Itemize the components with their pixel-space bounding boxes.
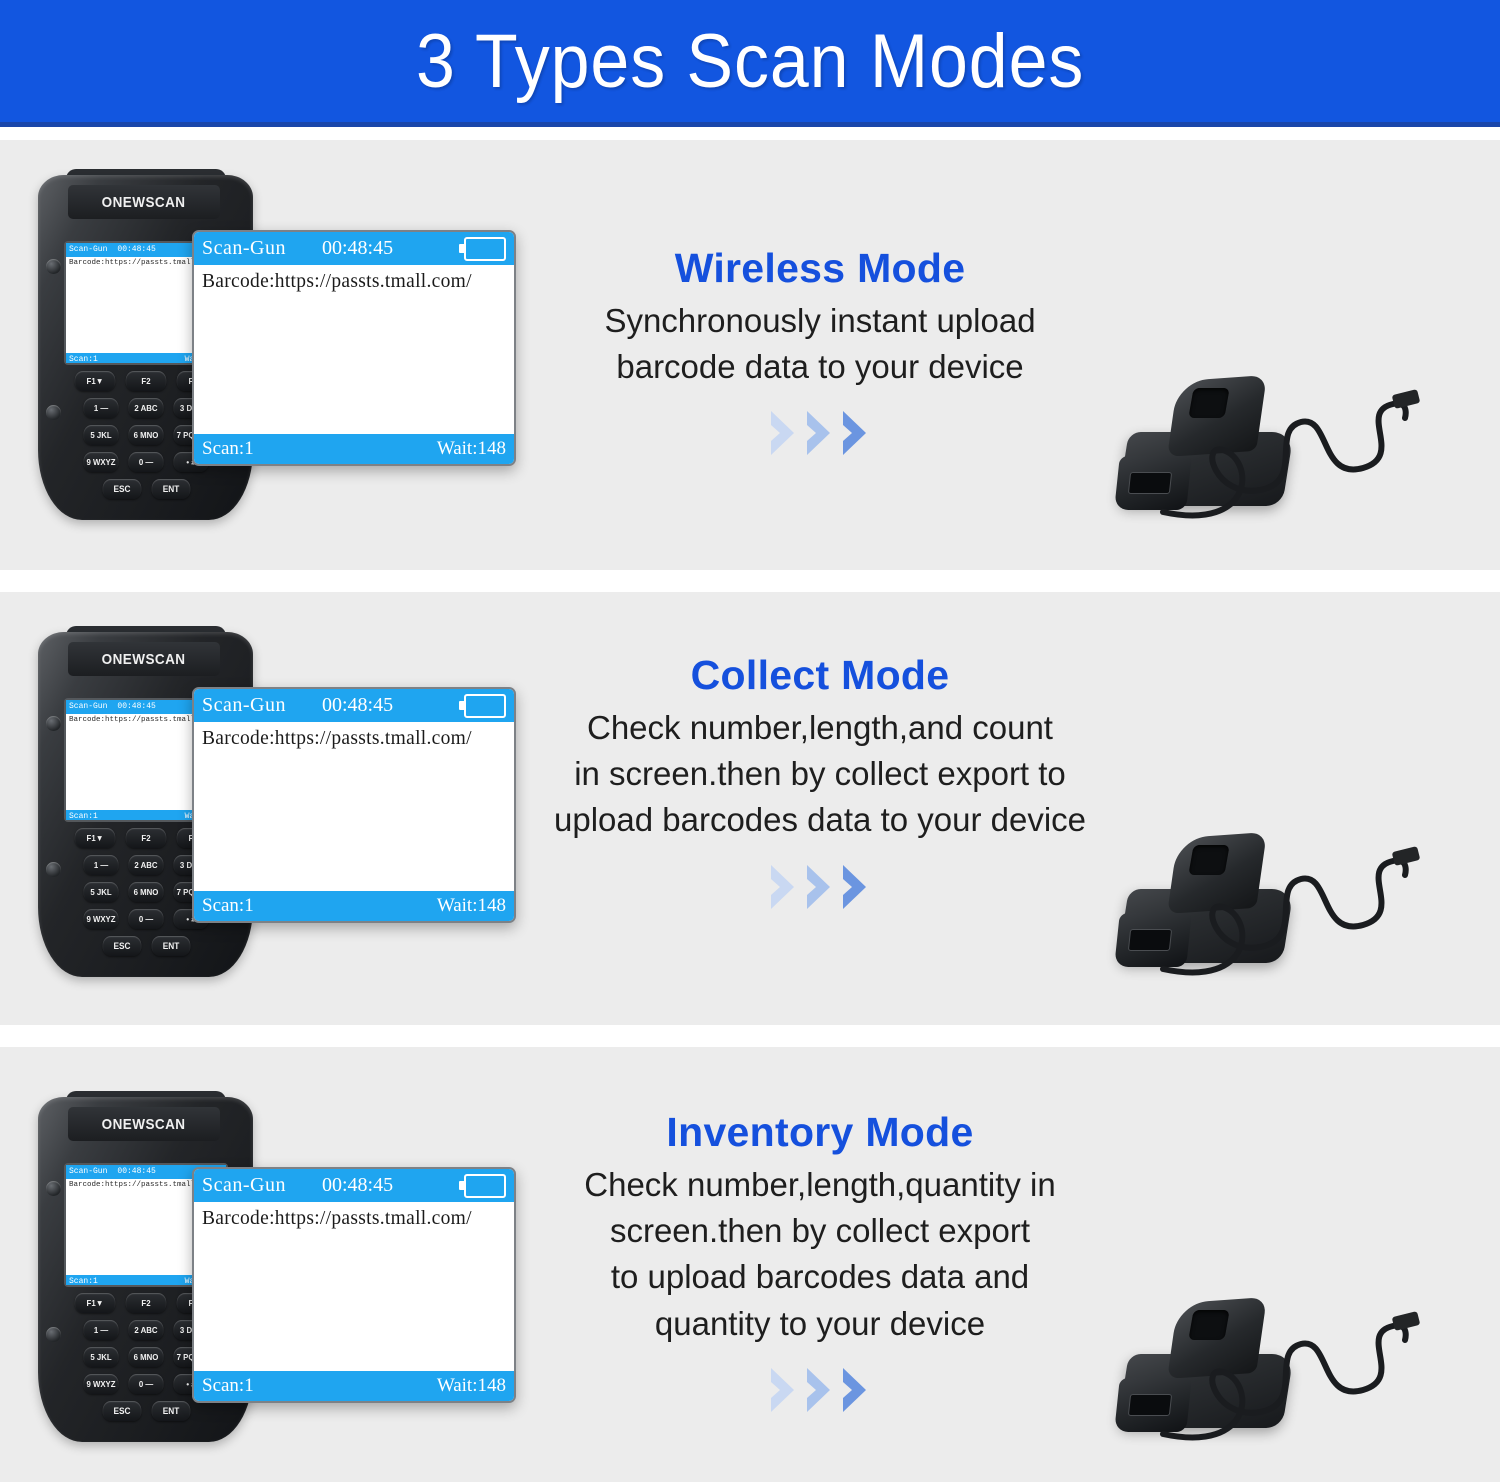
key-1[interactable]: 1 — [84,855,119,875]
key-f1[interactable]: F1▼ [75,828,115,848]
mini-screen-scan-count: Scan:1 [66,810,98,820]
key-1[interactable]: 1 — [84,398,119,418]
chevron-right-icon-2 [803,408,837,458]
mode-text-inventory: Inventory Mode Check number,length,quant… [520,1109,1120,1415]
key-2[interactable]: 2 ABC [129,1320,164,1340]
key-2[interactable]: 2 ABC [129,855,164,875]
cradle-front [1114,913,1192,967]
mini-screen-time: 00:48:45 [117,1165,155,1179]
cradle-window [1128,472,1172,494]
keypad-row-command: ESC ENT [60,936,232,956]
chevron-right-icon-2 [803,1365,837,1415]
mode-title-wireless: Wireless Mode [520,245,1120,292]
key-6[interactable]: 6 MNO [129,425,164,445]
mini-screen-time: 00:48:45 [117,700,155,714]
device-screw [46,259,61,274]
laptop-cradle-scene [1105,160,1500,530]
lcd-scan-count: Scan:1 [202,1375,254,1397]
mini-screen-title: Scan-Gun [66,1165,107,1179]
mode-panel-inventory: ONEWSCAN Scan-Gun 00:48:45 Barcode:https… [0,1047,1500,1482]
laptop-cradle-scene [1105,617,1500,987]
lcd-header-bar: Scan-Gun 00:48:45 [194,1169,514,1202]
charging-cradle [1115,1282,1305,1442]
chevron-right-icon-3 [839,408,873,458]
lcd-footer-bar: Scan:1 Wait:148 [194,1371,514,1401]
chevron-right-icon-2 [803,862,837,912]
lcd-barcode-text: Barcode:https://passts.tmall.com/ [194,722,514,891]
keypad-row-command: ESC ENT [60,1401,232,1421]
cradle-window [1128,929,1172,951]
device-brand-plate: ONEWSCAN [68,1107,220,1141]
lcd-footer-bar: Scan:1 Wait:148 [194,434,514,464]
cradle-front [1114,1378,1192,1432]
key-f2[interactable]: F2 [126,371,166,391]
chevron-arrows [520,862,1120,912]
mode-description-wireless: Synchronously instant upload barcode dat… [520,298,1120,390]
mini-screen-scan-count: Scan:1 [66,1275,98,1285]
enlarged-lcd-screen: Scan-Gun 00:48:45 Barcode:https://passts… [192,687,516,923]
device-screw [46,716,61,731]
key-f2[interactable]: F2 [126,1293,166,1313]
page-title: 3 Types Scan Modes [416,18,1084,105]
lcd-title: Scan-Gun [202,237,286,260]
key-1[interactable]: 1 — [84,1320,119,1340]
mini-screen-time: 00:48:45 [117,243,155,257]
mode-text-wireless: Wireless Mode Synchronously instant uplo… [520,245,1120,458]
battery-body [464,237,506,261]
key-ent[interactable]: ENT [151,1401,190,1421]
key-5[interactable]: 5 JKL [84,1347,119,1367]
mode-title-inventory: Inventory Mode [520,1109,1120,1156]
key-esc[interactable]: ESC [102,479,141,499]
cradle-slot [1188,1310,1229,1340]
device-brand-label: ONEWSCAN [102,194,186,211]
lcd-barcode-text: Barcode:https://passts.tmall.com/ [194,265,514,434]
device-screw [46,862,61,877]
key-f1[interactable]: F1▼ [75,371,115,391]
key-esc[interactable]: ESC [102,936,141,956]
lcd-scan-count: Scan:1 [202,895,254,917]
key-5[interactable]: 5 JKL [84,425,119,445]
chevron-right-icon-1 [767,408,801,458]
device-screw [46,1181,61,1196]
lcd-clock: 00:48:45 [322,694,393,717]
key-ent[interactable]: ENT [151,936,190,956]
lcd-clock: 00:48:45 [322,237,393,260]
key-0[interactable]: 0 — [129,452,164,472]
enlarged-lcd-screen: Scan-Gun 00:48:45 Barcode:https://passts… [192,230,516,466]
mode-panel-wireless: ONEWSCAN Scan-Gun 00:48:45 Barcode:https… [0,140,1500,570]
device-brand-label: ONEWSCAN [102,651,186,668]
key-6[interactable]: 6 MNO [129,882,164,902]
lcd-scan-count: Scan:1 [202,438,254,460]
key-9[interactable]: 9 WXYZ [84,1374,119,1394]
device-screw [46,1327,61,1342]
chevron-right-icon-3 [839,862,873,912]
key-0[interactable]: 0 — [129,1374,164,1394]
lcd-wait-count: Wait:148 [437,895,506,917]
mini-screen-scan-count: Scan:1 [66,353,98,363]
lcd-clock: 00:48:45 [322,1174,393,1197]
charging-cradle [1115,817,1305,977]
battery-body [464,694,506,718]
battery-icon [459,237,506,261]
mini-screen-title: Scan-Gun [66,700,107,714]
lcd-header-bar: Scan-Gun 00:48:45 [194,689,514,722]
key-f2[interactable]: F2 [126,828,166,848]
lcd-wait-count: Wait:148 [437,1375,506,1397]
mode-description-collect: Check number,length,and count in screen.… [520,705,1120,844]
device-brand-plate: ONEWSCAN [68,185,220,219]
lcd-barcode-text: Barcode:https://passts.tmall.com/ [194,1202,514,1371]
chevron-right-icon-1 [767,1365,801,1415]
key-2[interactable]: 2 ABC [129,398,164,418]
lcd-footer-bar: Scan:1 Wait:148 [194,891,514,921]
mode-panel-collect: ONEWSCAN Scan-Gun 00:48:45 Barcode:https… [0,592,1500,1025]
device-screw [46,405,61,420]
key-9[interactable]: 9 WXYZ [84,452,119,472]
chevron-arrows [520,408,1120,458]
mode-description-inventory: Check number,length,quantity in screen.t… [520,1162,1120,1347]
device-brand-label: ONEWSCAN [102,1116,186,1133]
chevron-arrows [520,1365,1120,1415]
chevron-right-icon-1 [767,862,801,912]
key-9[interactable]: 9 WXYZ [84,909,119,929]
infographic-page: 3 Types Scan Modes ONEWSCAN Scan-Gun 00:… [0,0,1500,1482]
battery-icon [459,1174,506,1198]
device-brand-plate: ONEWSCAN [68,642,220,676]
lcd-header-bar: Scan-Gun 00:48:45 [194,232,514,265]
key-6[interactable]: 6 MNO [129,1347,164,1367]
laptop-cradle-scene [1105,1082,1500,1452]
key-esc[interactable]: ESC [102,1401,141,1421]
mini-screen-title: Scan-Gun [66,243,107,257]
battery-icon [459,694,506,718]
charging-cradle [1115,360,1305,520]
keypad-row-command: ESC ENT [60,479,232,499]
lcd-title: Scan-Gun [202,1174,286,1197]
enlarged-lcd-screen: Scan-Gun 00:48:45 Barcode:https://passts… [192,1167,516,1403]
mode-text-collect: Collect Mode Check number,length,and cou… [520,652,1120,912]
key-ent[interactable]: ENT [151,479,190,499]
cradle-window [1128,1394,1172,1416]
chevron-right-icon-3 [839,1365,873,1415]
lcd-title: Scan-Gun [202,694,286,717]
cradle-slot [1188,388,1229,418]
mode-title-collect: Collect Mode [520,652,1120,699]
key-0[interactable]: 0 — [129,909,164,929]
lcd-wait-count: Wait:148 [437,438,506,460]
battery-body [464,1174,506,1198]
header-banner: 3 Types Scan Modes [0,0,1500,127]
cradle-front [1114,456,1192,510]
key-5[interactable]: 5 JKL [84,882,119,902]
cradle-slot [1188,845,1229,875]
key-f1[interactable]: F1▼ [75,1293,115,1313]
